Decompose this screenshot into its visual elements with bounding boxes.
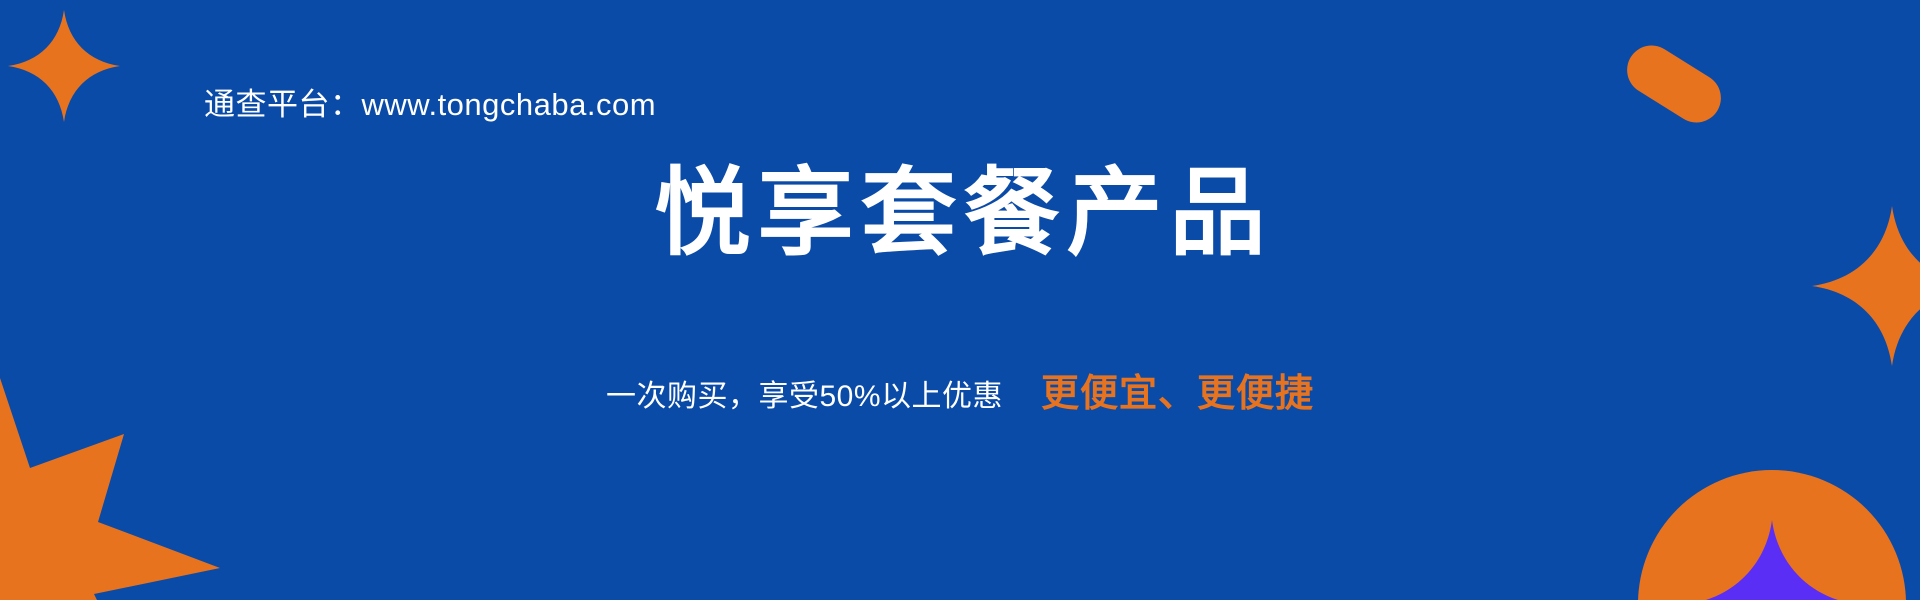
tagline-benefit-text: 更便宜、更便捷	[1041, 362, 1314, 417]
banner-content: 通查平台：www.tongchaba.com 悦享套餐产品 一次购买，享受50%…	[0, 0, 1920, 600]
site-url: www.tongchaba.com	[362, 87, 657, 122]
promo-banner: 通查平台：www.tongchaba.com 悦享套餐产品 一次购买，享受50%…	[0, 0, 1920, 600]
site-url-line: 通查平台：www.tongchaba.com	[204, 86, 656, 125]
page-title: 悦享套餐产品	[0, 160, 1920, 268]
tagline-discount-text: 一次购买，享受50%以上优惠	[606, 371, 1003, 415]
site-label: 通查平台：	[204, 87, 362, 122]
tagline-row: 一次购买，享受50%以上优惠 更便宜、更便捷	[0, 362, 1920, 417]
